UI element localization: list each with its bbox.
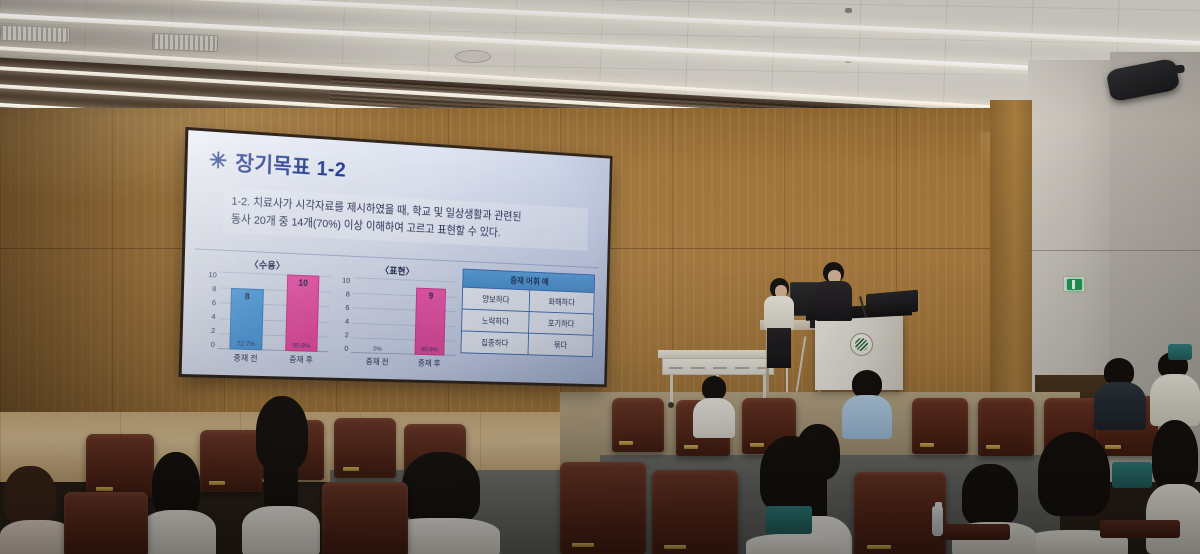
chart-expressive: 〈표현〉 10 8 6 4 2 0 xyxy=(334,261,458,373)
x-tick: 중재 후 xyxy=(408,357,450,370)
y-tick: 6 xyxy=(212,299,216,307)
person-shoulders xyxy=(140,510,216,554)
presenter-legs xyxy=(767,328,791,368)
presenter-left xyxy=(760,278,800,368)
y-tick: 10 xyxy=(208,271,216,279)
seat-cushion xyxy=(1112,462,1152,488)
pillar-seam xyxy=(1028,250,1200,251)
chart-plot-area: 10 8 6 4 2 0 xyxy=(334,276,457,363)
auditorium-seat xyxy=(64,492,148,554)
person-shoulders xyxy=(746,534,840,554)
audience-person xyxy=(952,464,1036,554)
bar-expressive-post: 9 90.9% xyxy=(414,287,446,355)
y-tick: 6 xyxy=(345,304,349,312)
slide-title-text: 장기목표 1-2 xyxy=(235,147,347,183)
auditorium-seat xyxy=(652,470,738,554)
bar-receptive-post: 10 90.9% xyxy=(285,274,320,352)
bar-group-pre: 8 72.7% xyxy=(223,272,270,351)
table-cell: 양보하다 xyxy=(463,288,530,311)
auditorium-seat xyxy=(560,462,646,554)
y-tick: 0 xyxy=(211,341,215,349)
person-hair xyxy=(402,452,480,524)
person-hair xyxy=(152,452,200,518)
person-hair xyxy=(962,464,1018,526)
audience-person xyxy=(692,376,736,438)
seat-armrest xyxy=(1100,520,1180,538)
x-axis-labels: 중재 전 중재 후 xyxy=(217,351,328,366)
presenter-torso xyxy=(816,281,852,321)
bar-value-label: 8 xyxy=(232,290,263,301)
slide-objective-box: 1-2. 치료사가 시각자료를 제시하였을 때, 학교 및 일상생활과 관련된 … xyxy=(223,187,588,251)
presenter-right xyxy=(815,262,857,326)
university-emblem-icon xyxy=(850,333,873,356)
y-axis-ticks: 10 8 6 4 2 0 xyxy=(200,271,217,349)
asterisk-bullet-icon: ✳ xyxy=(209,149,228,172)
ceiling-fixture-dot xyxy=(845,8,852,13)
audience-person xyxy=(242,396,320,554)
presentation-slide: ✳ 장기목표 1-2 1-2. 치료사가 시각자료를 제시하였을 때, 학교 및… xyxy=(182,130,610,384)
x-axis-labels: 중재 전 중재 후 xyxy=(351,355,455,369)
person-shoulders xyxy=(693,398,735,438)
person-hair xyxy=(702,376,726,400)
slide-body: 〈수용〉 10 8 6 4 2 0 xyxy=(200,255,601,377)
person-shoulders xyxy=(242,506,320,554)
table-cell: 포기하다 xyxy=(529,312,594,335)
y-tick: 2 xyxy=(345,332,349,340)
y-tick: 4 xyxy=(211,313,215,321)
table-cell: 노력하다 xyxy=(462,310,529,333)
air-vent-icon xyxy=(0,25,70,43)
x-tick: 중재 후 xyxy=(279,353,323,366)
person-hair xyxy=(852,370,882,398)
x-tick: 중재 전 xyxy=(223,351,268,364)
bar-percent-label: 90.9% xyxy=(415,346,444,354)
y-tick: 0 xyxy=(344,345,348,352)
bar-value-label: 9 xyxy=(416,290,445,301)
seat-cushion xyxy=(766,506,812,534)
bar-percent-label: 72.7% xyxy=(230,340,261,348)
y-tick: 4 xyxy=(345,318,349,326)
auditorium-seat xyxy=(322,482,408,554)
bar-percent-label: 90.9% xyxy=(286,342,317,350)
person-hair xyxy=(1152,420,1198,490)
chart-plot-area: 10 8 6 4 2 0 xyxy=(200,271,331,360)
y-tick: 10 xyxy=(342,277,350,285)
lecture-hall-photo: ✳ 장기목표 1-2 1-2. 치료사가 시각자료를 제시하였을 때, 학교 및… xyxy=(0,0,1200,554)
water-bottle xyxy=(932,506,943,536)
table-cell: 화해하다 xyxy=(529,290,594,313)
chart-receptive: 〈수용〉 10 8 6 4 2 0 xyxy=(200,255,332,370)
x-tick: 중재 전 xyxy=(356,355,398,368)
bar-value-label: 10 xyxy=(288,277,319,288)
table-cell: 묶다 xyxy=(528,334,593,357)
audience-person xyxy=(140,452,216,554)
projection-screen: ✳ 장기목표 1-2 1-2. 치료사가 시각자료를 제시하였을 때, 학교 및… xyxy=(182,130,610,384)
presenter-torso xyxy=(764,296,794,330)
y-tick: 8 xyxy=(346,291,350,299)
person-shoulders xyxy=(1094,382,1146,430)
bar-percent-label-zero: 0% xyxy=(356,345,398,353)
table-row: 집중하다 묶다 xyxy=(461,331,592,356)
smoke-detector-icon xyxy=(455,50,491,63)
y-tick: 2 xyxy=(211,327,215,335)
bar-receptive-pre: 8 72.7% xyxy=(229,287,264,350)
air-vent-icon xyxy=(152,33,219,52)
audience-person xyxy=(1094,358,1146,430)
person-shoulders xyxy=(0,520,74,554)
person-hair xyxy=(4,466,56,526)
person-shoulders xyxy=(1146,484,1200,554)
y-tick: 8 xyxy=(212,285,216,293)
auditorium-seat xyxy=(912,398,968,454)
seat-cushion xyxy=(1168,344,1192,360)
bar-group-post: 10 90.9% xyxy=(279,274,325,352)
audience-person xyxy=(744,436,840,554)
chart-bars: 0% 9 90.9% xyxy=(351,277,457,356)
seat-armrest xyxy=(940,524,1010,540)
person-shoulders xyxy=(1150,374,1200,426)
exit-sign-icon xyxy=(1063,276,1085,292)
bar-group-pre: 0% xyxy=(356,277,400,354)
chart-bars: 8 72.7% 10 90.9% xyxy=(218,272,331,353)
y-axis-ticks: 10 8 6 4 2 0 xyxy=(334,276,350,352)
table-cell: 집중하다 xyxy=(461,331,528,354)
bar-group-post: 9 90.9% xyxy=(409,280,452,356)
audience-person xyxy=(1150,352,1200,426)
vocab-table: 중재 어휘 예 양보하다 화해하다 노력하다 포기하다 집중하다 묶다 xyxy=(460,269,595,358)
auditorium-seat xyxy=(612,398,664,452)
person-hair xyxy=(1038,432,1110,516)
